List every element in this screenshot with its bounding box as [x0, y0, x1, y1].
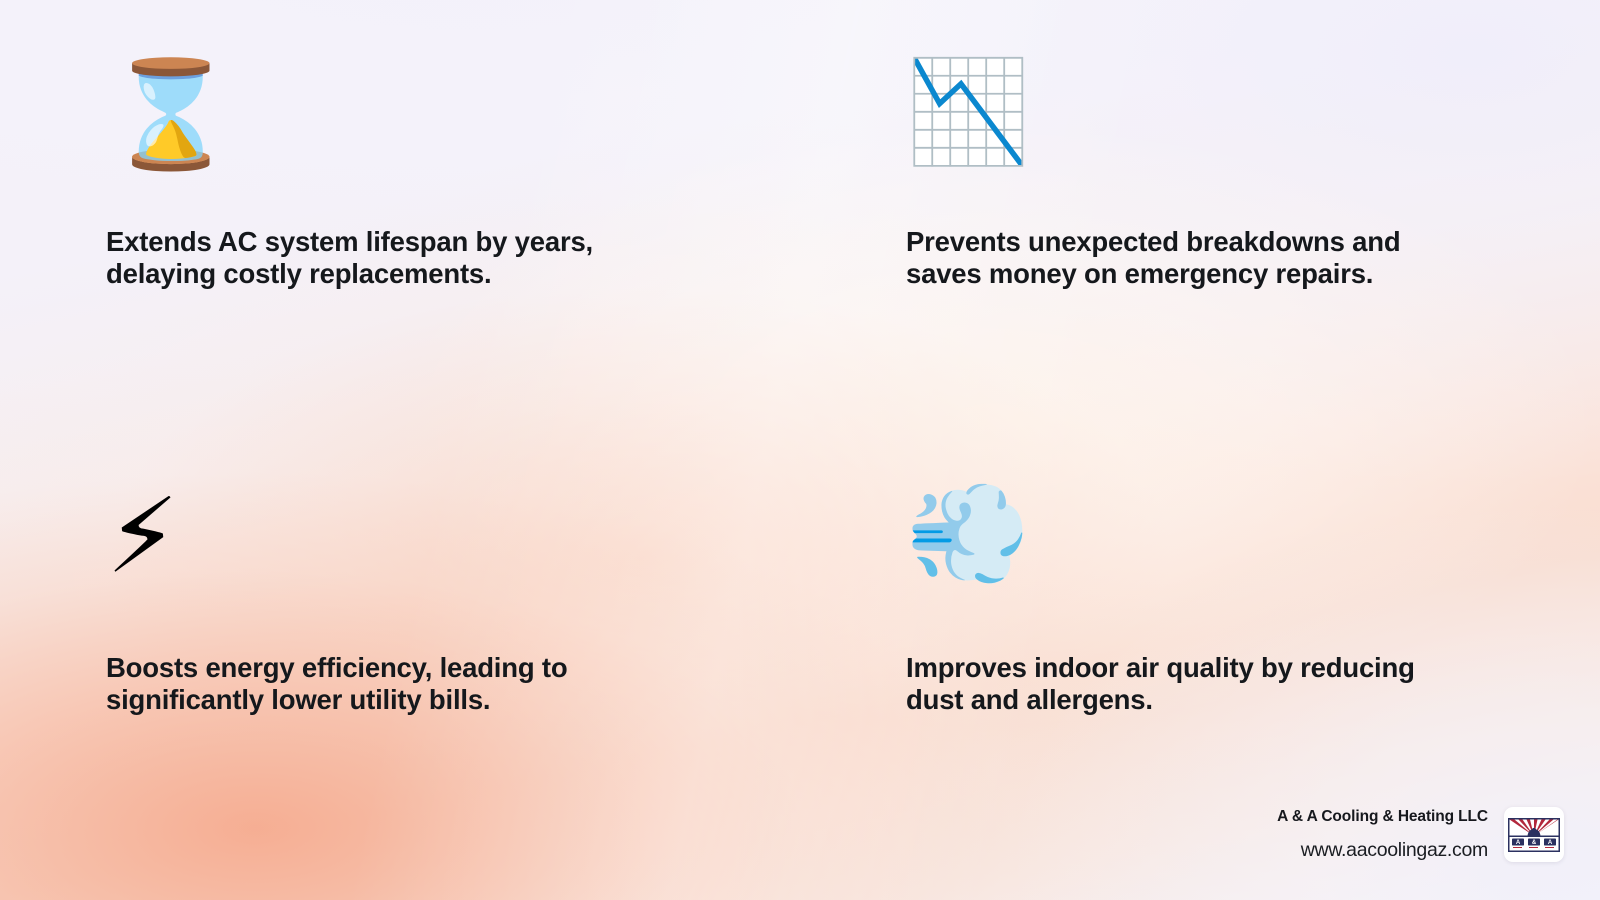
svg-text:A: A [1516, 840, 1521, 846]
benefit-card-efficiency: ⚡ Boosts energy efficiency, leading to s… [106, 484, 666, 716]
benefit-card-air-quality: 💨 Improves indoor air quality by reducin… [906, 484, 1486, 716]
benefits-grid: ⌛ Extends AC system lifespan by years, d… [0, 0, 1600, 900]
company-website[interactable]: www.aacoolingaz.com [1277, 841, 1488, 861]
svg-text:A: A [1548, 840, 1553, 846]
infographic-canvas: ⌛ Extends AC system lifespan by years, d… [0, 0, 1600, 900]
benefit-card-lifespan: ⌛ Extends AC system lifespan by years, d… [106, 62, 666, 290]
benefit-card-breakdowns: 📉 Prevents unexpected breakdowns and sav… [906, 62, 1486, 290]
brand-footer: A & A Cooling & Heating LLC www.aacoolin… [1277, 807, 1564, 862]
benefit-text-efficiency: Boosts energy efficiency, leading to sig… [106, 652, 666, 716]
dashing-away-icon: 💨 [906, 484, 1486, 608]
benefit-text-lifespan: Extends AC system lifespan by years, del… [106, 226, 666, 290]
company-name: A & A Cooling & Heating LLC [1277, 809, 1488, 825]
chart-decreasing-icon: 📉 [906, 62, 1486, 186]
high-voltage-icon: ⚡ [106, 484, 666, 608]
brand-text-lines: A & A Cooling & Heating LLC www.aacoolin… [1277, 809, 1488, 860]
benefit-text-air-quality: Improves indoor air quality by reducing … [906, 652, 1486, 716]
benefit-text-breakdowns: Prevents unexpected breakdowns and saves… [906, 226, 1486, 290]
hourglass-icon: ⌛ [106, 62, 666, 186]
svg-text:&: & [1532, 840, 1537, 846]
a-and-a-arizona-flag-logo: A & A [1508, 818, 1560, 852]
logo-card: A & A [1504, 807, 1564, 862]
